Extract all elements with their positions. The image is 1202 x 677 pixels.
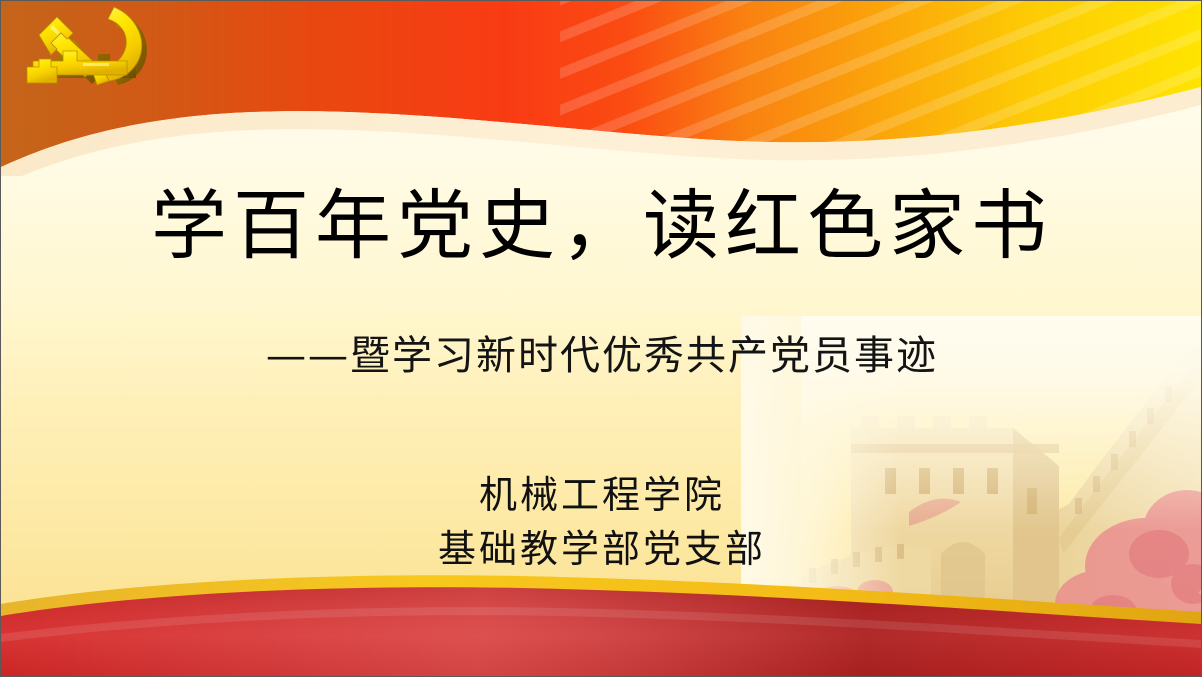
header-banner: [1, 1, 1201, 176]
organization-line-college: 机械工程学院: [1, 469, 1202, 523]
page-title: 学百年党史，读红色家书: [1, 186, 1202, 266]
page-subtitle: ——暨学习新时代优秀共产党员事迹: [1, 333, 1202, 379]
bottom-red-wave-ribbon: [1, 556, 1201, 676]
cpc-hammer-sickle-emblem: [23, 5, 173, 97]
presentation-slide: 学百年党史，读红色家书 ——暨学习新时代优秀共产党员事迹 机械工程学院 基础教学…: [0, 0, 1202, 677]
